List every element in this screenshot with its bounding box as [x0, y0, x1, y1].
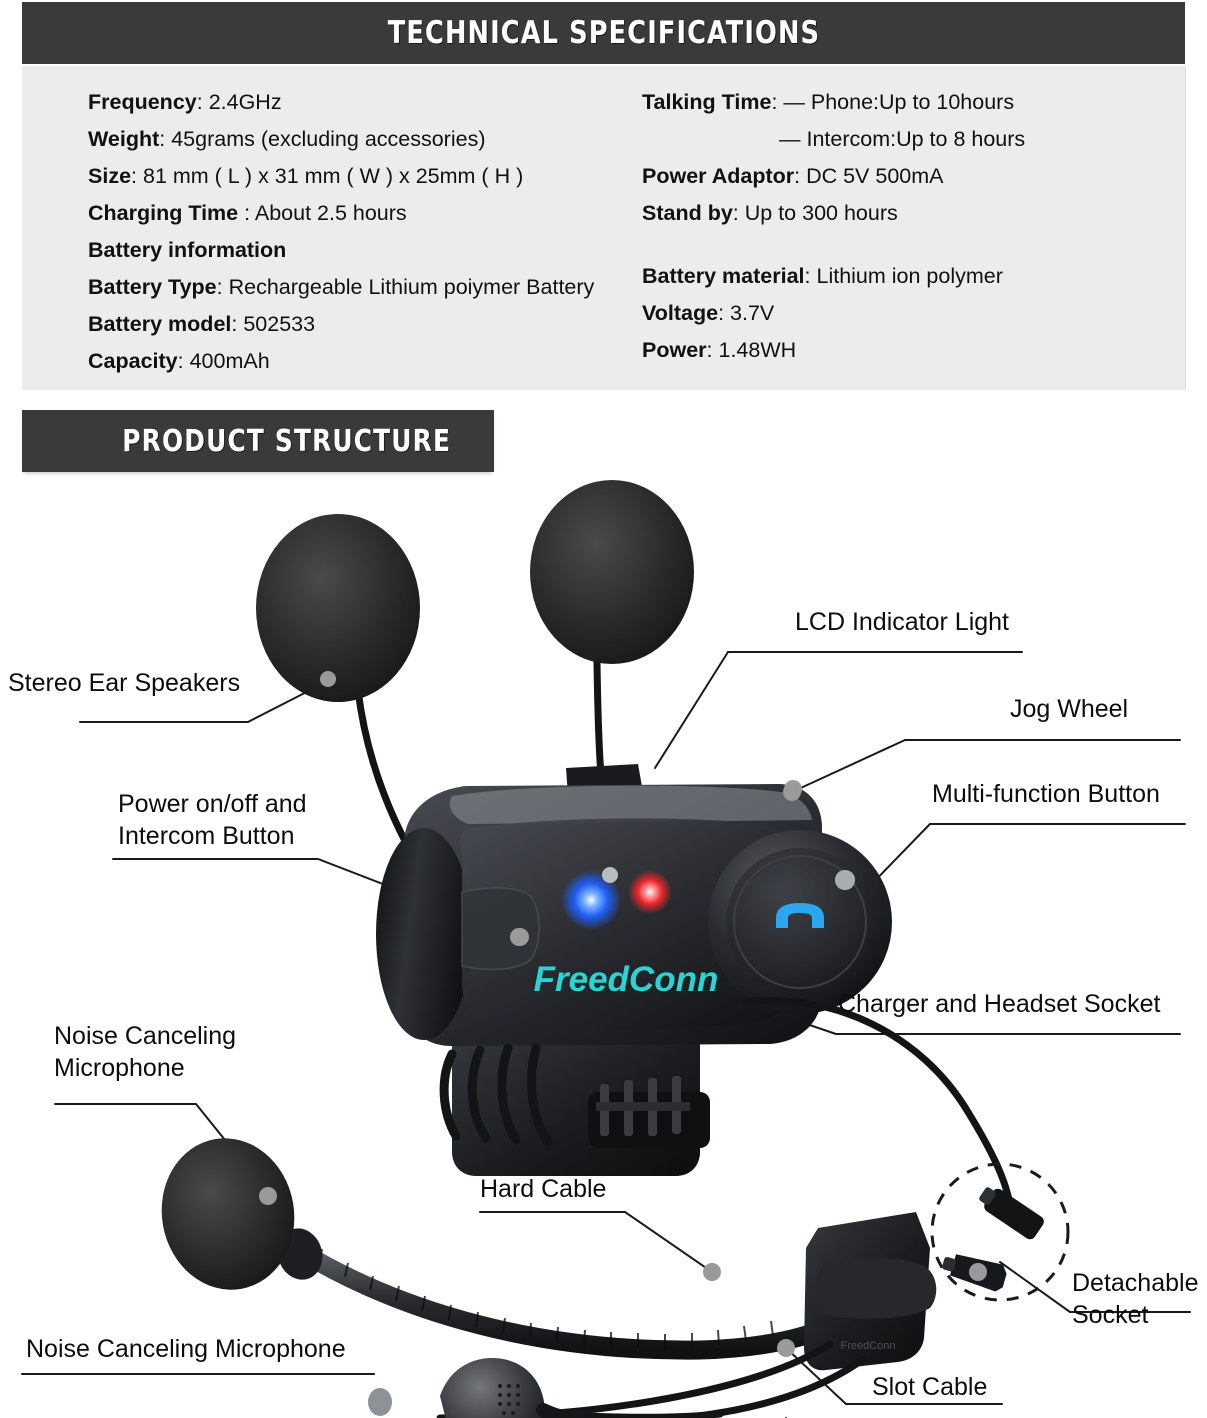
- spec-row-talking-time-intercom: — Intercom:Up to 8 hours: [642, 121, 1182, 158]
- callout-power-intercom-button-line2: Intercom Button: [118, 820, 307, 852]
- diagram-graphics: FreedConn: [0, 472, 1207, 1418]
- callout-power-intercom-button: Power on/off and Intercom Button: [118, 788, 307, 852]
- spec-row-frequency: Frequency: 2.4GHz: [88, 84, 648, 121]
- callout-jog-wheel: Jog Wheel: [1010, 694, 1128, 724]
- spec-left-column: Frequency: 2.4GHz Weight: 45grams (exclu…: [88, 84, 648, 380]
- spec-row-battery-model: Battery model: 502533: [88, 306, 648, 343]
- stereo-speaker-left: [256, 514, 420, 702]
- svg-text:FreedConn: FreedConn: [840, 1340, 895, 1352]
- tech-spec-body: Frequency: 2.4GHz Weight: 45grams (exclu…: [22, 66, 1186, 390]
- callout-noise-canceling-microphone-wired: Noise Canceling Microphone: [26, 1334, 346, 1364]
- spec-right-battery-column: Battery material: Lithium ion polymer Vo…: [642, 258, 1182, 369]
- brand-logo-text: FreedConn: [534, 960, 719, 999]
- spec-row-size: Size: 81 mm ( L ) x 31 mm ( W ) x 25mm (…: [88, 158, 648, 195]
- microphone-foam: [150, 1128, 306, 1301]
- spec-row-battery-type: Battery Type: Rechargeable Lithium poiym…: [88, 269, 648, 306]
- callout-detachable-socket-line1: Detachable: [1072, 1267, 1198, 1299]
- wired-earbud-microphone: [368, 1358, 720, 1418]
- product-structure-header: PRODUCT STRUCTURE: [22, 410, 494, 472]
- usb-plug-upper: [975, 1182, 1046, 1242]
- spec-right-column: Talking Time: — Phone:Up to 10hours — In…: [642, 84, 1182, 232]
- callout-noise-canceling-microphone: Noise Canceling Microphone: [54, 1020, 236, 1084]
- tech-spec-title: TECHNICAL SPECIFICATIONS: [387, 15, 819, 51]
- tech-spec-header: TECHNICAL SPECIFICATIONS: [22, 2, 1185, 64]
- power-intercom-button-shape: [462, 888, 539, 969]
- callout-detachable-socket-line2: Socket: [1072, 1299, 1198, 1331]
- callout-multi-function-button: Multi-function Button: [932, 779, 1160, 809]
- callout-stereo-ear-speakers: Stereo Ear Speakers: [8, 668, 240, 698]
- callout-lcd-indicator-light: LCD Indicator Light: [795, 607, 1009, 637]
- technical-specifications-panel: TECHNICAL SPECIFICATIONS Frequency: 2.4G…: [22, 0, 1185, 392]
- callout-power-intercom-button-line1: Power on/off and: [118, 788, 307, 820]
- callout-hard-cable: Hard Cable: [480, 1174, 606, 1204]
- product-structure-title: PRODUCT STRUCTURE: [122, 424, 451, 459]
- callout-noise-canceling-microphone-line2: Microphone: [54, 1052, 236, 1084]
- spec-row-power: Power: 1.48WH: [642, 332, 1182, 369]
- callout-charger-headset-socket: Charger and Headset Socket: [838, 989, 1160, 1019]
- spec-row-charging-time: Charging Time : About 2.5 hours: [88, 195, 648, 232]
- spec-row-battery-information: Battery information: [88, 232, 648, 269]
- callout-noise-canceling-microphone-line1: Noise Canceling: [54, 1020, 236, 1052]
- spec-row-capacity: Capacity: 400mAh: [88, 343, 648, 380]
- callout-detachable-socket: Detachable Socket: [1072, 1267, 1198, 1331]
- spec-row-battery-material: Battery material: Lithium ion polymer: [642, 258, 1182, 295]
- callout-slot-cable: Slot Cable: [872, 1372, 987, 1402]
- spec-row-stand-by: Stand by: Up to 300 hours: [642, 195, 1182, 232]
- stereo-speaker-right: [530, 480, 694, 664]
- spec-row-weight: Weight: 45grams (excluding accessories): [88, 121, 648, 158]
- product-structure-diagram: FreedConn: [0, 472, 1207, 1418]
- headset-unit: FreedConn: [376, 764, 892, 1176]
- spec-row-power-adaptor: Power Adaptor: DC 5V 500mA: [642, 158, 1182, 195]
- spec-row-talking-time: Talking Time: — Phone:Up to 10hours: [642, 84, 1182, 121]
- spec-row-voltage: Voltage: 3.7V: [642, 295, 1182, 332]
